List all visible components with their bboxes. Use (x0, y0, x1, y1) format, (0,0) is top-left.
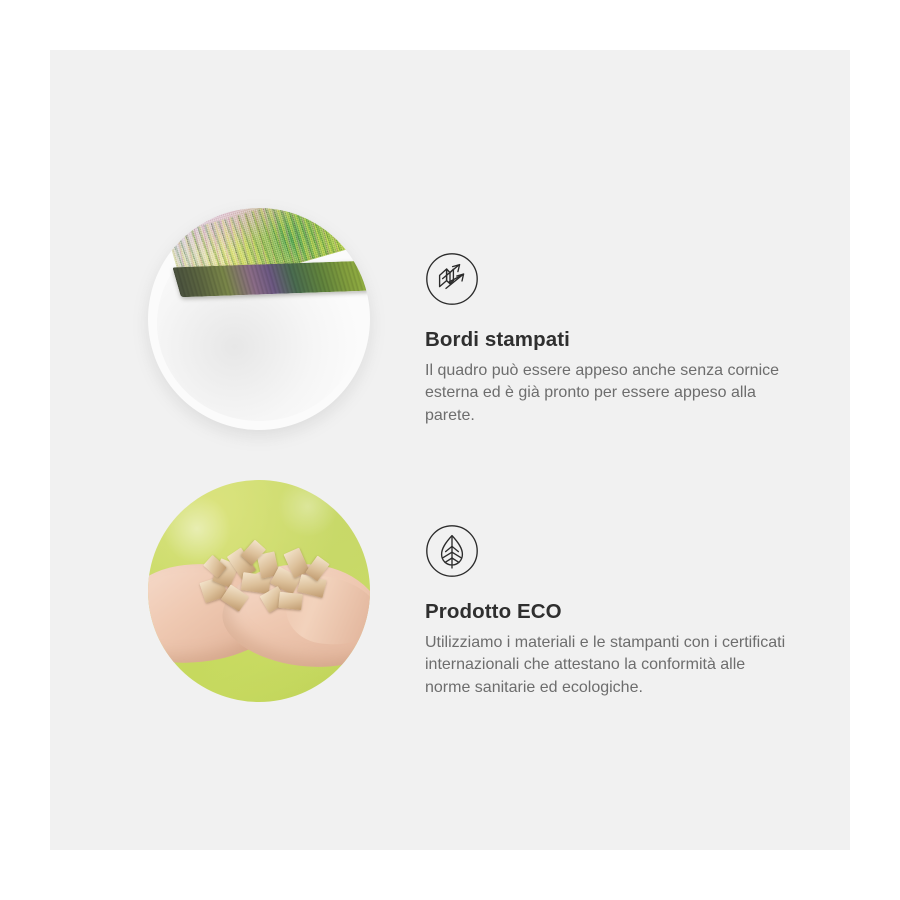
feature-title: Prodotto ECO (425, 600, 805, 625)
feature-block-printed-edges: Bordi stampati Il quadro può essere appe… (50, 190, 850, 480)
product-feature-panel: Bordi stampati Il quadro può essere appe… (0, 0, 900, 900)
feature-text-eco-product: Prodotto ECO Utilizziamo i materiali e l… (425, 524, 805, 700)
hands-holding-woodchips-photo (148, 480, 370, 702)
feature-description: Il quadro può essere appeso anche senza … (425, 360, 790, 428)
feature-description: Utilizziamo i materiali e le stampanti c… (425, 632, 790, 700)
content-panel: Bordi stampati Il quadro può essere appe… (50, 50, 850, 850)
leaf-icon (425, 524, 479, 578)
feature-block-eco-product: Prodotto ECO Utilizziamo i materiali e l… (50, 460, 850, 750)
feature-title: Bordi stampati (425, 328, 805, 353)
feature-text-printed-edges: Bordi stampati Il quadro può essere appe… (425, 252, 805, 428)
woodchip-pile (197, 542, 335, 622)
canvas-wrapped-edge-icon (425, 252, 479, 306)
canvas-corner-photo (148, 208, 370, 430)
canvas-wrapped-edge (172, 261, 369, 297)
